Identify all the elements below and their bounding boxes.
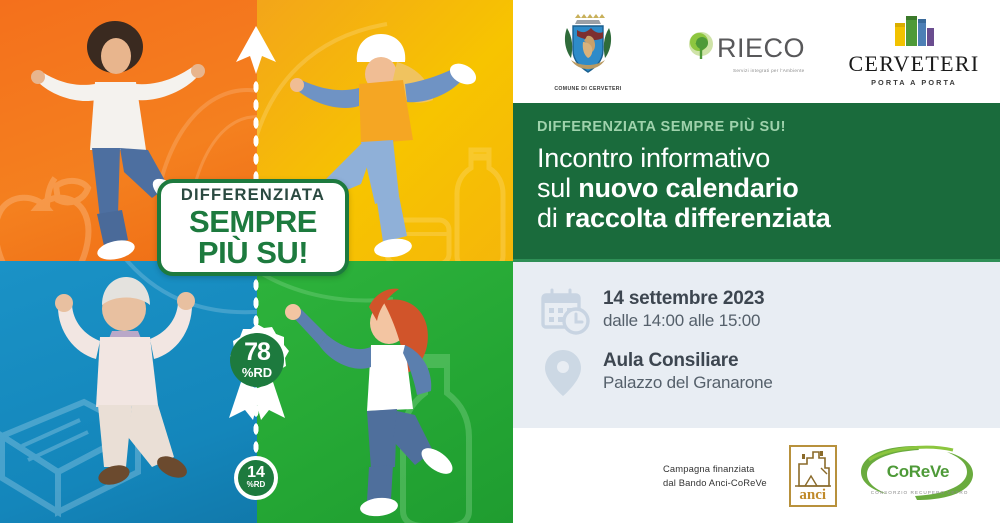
- logo-strip: COMUNE DI CERVETERI RIECO: [513, 0, 1000, 103]
- anci-wordmark: anci: [791, 488, 835, 503]
- person-jumping-green: [257, 261, 513, 523]
- headline-line-2-bold: nuovo calendario: [578, 173, 798, 203]
- event-place-text: Aula Consiliare Palazzo del Granarone: [603, 350, 773, 393]
- badge-14-unit: %RD: [233, 481, 279, 489]
- headline-line-3-bold: raccolta differenziata: [565, 203, 831, 233]
- headline-line-1: Incontro informativo: [537, 143, 831, 173]
- headline-band: DIFFERENZIATA SEMPRE PIÙ SU! Incontro in…: [513, 103, 1000, 262]
- event-date-subtitle: dalle 14:00 alle 15:00: [603, 310, 764, 331]
- recycling-bins-icon: [893, 16, 935, 51]
- headline-line-2: sul nuovo calendario: [537, 173, 831, 203]
- cerveteri-subtitle: PORTA A PORTA: [871, 78, 957, 87]
- campaign-lockup: DIFFERENZIATA SEMPRE PIÙ SU!: [157, 179, 349, 276]
- quadrant-glass: [257, 261, 513, 523]
- lockup-line-3: PIÙ SU!: [198, 237, 308, 268]
- calendar-clock-icon: [539, 284, 591, 336]
- dotted-progress-line: [252, 78, 260, 493]
- funding-text: Campagna finanziata dal Bando Anci-CoReV…: [663, 462, 767, 489]
- funding-line-2: dal Bando Anci-CoReVe: [663, 476, 767, 490]
- event-place-row: Aula Consiliare Palazzo del Granarone: [539, 346, 773, 398]
- logo-comune-di-cerveteri: COMUNE DI CERVETERI: [513, 12, 663, 92]
- logo-rieco: RIECO Servizi integrati per l'Ambiente: [663, 31, 828, 73]
- logo-anci: anci: [789, 445, 837, 507]
- map-pin-icon: [539, 346, 591, 398]
- logo-cerveteri-porta-a-porta: CERVETERI PORTA A PORTA: [828, 16, 1000, 87]
- badge-14-number: 14: [233, 465, 279, 481]
- headline-line-2-plain: sul: [537, 173, 578, 203]
- logo-coreve: CoReVe CONSORZIO RECUPERO VETRO: [857, 442, 977, 509]
- promotional-poster: 78 %RD 14 %RD DIFFERENZIATA SEMPRE PIÙ S…: [0, 0, 1000, 523]
- headline-text: Incontro informativo sul nuovo calendari…: [537, 143, 831, 234]
- rieco-wordmark: RIECO: [717, 35, 805, 62]
- headline-line-3: di raccolta differenziata: [537, 203, 831, 233]
- headline-kicker: DIFFERENZIATA SEMPRE PIÙ SU!: [537, 119, 786, 135]
- content-panel: COMUNE DI CERVETERI RIECO: [513, 0, 1000, 523]
- coat-of-arms-icon: [557, 12, 619, 83]
- lockup-line-1: DIFFERENZIATA: [181, 187, 325, 204]
- coreve-wordmark: CoReVe: [887, 462, 949, 482]
- badge-78-number: 78: [219, 340, 295, 365]
- event-place-title: Aula Consiliare: [603, 350, 773, 372]
- event-date-row: 14 settembre 2023 dalle 14:00 alle 15:00: [539, 284, 764, 336]
- cerveteri-wordmark: CERVETERI: [849, 53, 980, 75]
- event-date-title: 14 settembre 2023: [603, 288, 764, 310]
- headline-line-3-plain: di: [537, 203, 565, 233]
- logo-comune-caption: COMUNE DI CERVETERI: [554, 86, 621, 92]
- event-date-text: 14 settembre 2023 dalle 14:00 alle 15:00: [603, 288, 764, 331]
- funding-line-1: Campagna finanziata: [663, 462, 767, 476]
- badge-78-percent: 78 %RD: [219, 324, 295, 420]
- imagery-panel: 78 %RD 14 %RD DIFFERENZIATA SEMPRE PIÙ S…: [0, 0, 513, 523]
- rieco-tagline: Servizi integrati per l'Ambiente: [687, 68, 805, 73]
- badge-78-unit: %RD: [219, 366, 295, 379]
- event-place-subtitle: Palazzo del Granarone: [603, 372, 773, 393]
- arrow-up-icon: [236, 26, 276, 74]
- event-info-band: 14 settembre 2023 dalle 14:00 alle 15:00…: [513, 262, 1000, 428]
- funding-footer: Campagna finanziata dal Bando Anci-CoReV…: [513, 428, 1000, 523]
- badge-14-percent: 14 %RD: [233, 455, 279, 501]
- rieco-tree-icon: [686, 31, 716, 66]
- lockup-line-2: SEMPRE: [189, 207, 317, 236]
- coreve-tagline: CONSORZIO RECUPERO VETRO: [871, 490, 969, 495]
